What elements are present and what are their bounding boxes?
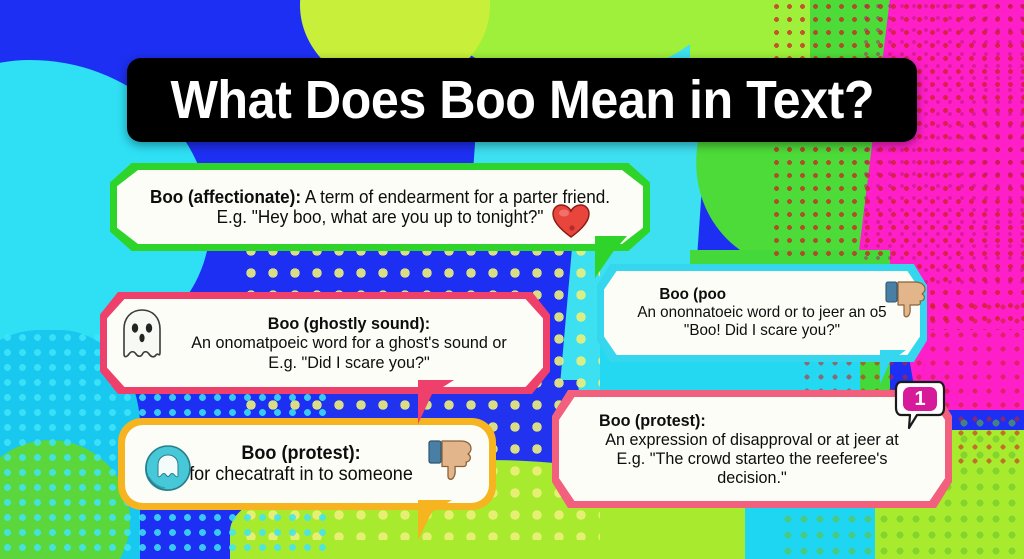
card-line3-protest-large: decision." [582, 468, 922, 487]
card-line2-protest-large: E.g. "The crowd starteo the reeferee's [582, 449, 922, 468]
card-surface-ghostly: Boo (ghostly sound): An onomatpoeic word… [107, 299, 543, 387]
card-label-ghostly: Boo (ghostly sound): [178, 314, 520, 333]
card-text-poo: Boo (poo An ononnatoeic word or to jeer … [625, 286, 899, 340]
card-poo[interactable]: Boo (poo An ononnatoeic word or to jeer … [597, 264, 927, 362]
card-line1-protest-large: An expression of disapproval or at jeer … [582, 430, 922, 449]
card-line1-affectionate: A term of endearment for a parter [305, 187, 558, 207]
card-surface-poo: Boo (poo An ononnatoeic word or to jeer … [604, 271, 920, 355]
card-line2-poo: "Boo! Did I scare you?" [625, 322, 899, 340]
card-text-ghostly: Boo (ghostly sound): An onomatpoeic word… [178, 314, 520, 371]
card-line1-poo: An ononnatoeic word or to jeer an o5 [625, 304, 899, 322]
page-title: What Does Boo Mean in Text? [170, 69, 874, 131]
thumbs-down-icon [427, 437, 475, 485]
card-protest-large[interactable]: Boo (protest): An expression of disappro… [552, 390, 952, 508]
ghost-circle-icon [142, 443, 194, 495]
card-label-protest-small: Boo (protest): [189, 443, 413, 464]
ghost-icon [113, 306, 171, 364]
card-text-affectionate: Boo (affectionate): A term of endearment… [143, 187, 616, 227]
infographic-canvas: What Does Boo Mean in Text? Boo (affecti… [0, 0, 1024, 559]
card-content-poo: Boo (poo An ononnatoeic word or to jeer … [604, 286, 920, 340]
speech-tail-ghostly [418, 380, 454, 424]
card-line2-ghostly: E.g. "Did I scare you?" [178, 353, 520, 372]
card-content-ghostly: Boo (ghostly sound): An onomatpoeic word… [107, 314, 543, 371]
title-banner: What Does Boo Mean in Text? [127, 58, 917, 142]
speech-tail-affectionate [595, 236, 627, 278]
heart-icon [551, 203, 591, 239]
halftone-magenta [860, 0, 1024, 290]
card-surface-protest-large: Boo (protest): An expression of disappro… [559, 397, 945, 501]
card-text-protest-small: Boo (protest): for checatraft in to some… [189, 443, 413, 486]
card-label-protest-large: Boo (protest): [582, 411, 922, 430]
card-label-affectionate: Boo (affectionate): [150, 187, 301, 207]
badge-number-text: 1 [903, 387, 937, 411]
card-line1-protest-small: for checatraft in to someone [189, 464, 413, 485]
number-one-badge: 1 [893, 378, 947, 432]
card-content-protest-large: Boo (protest): An expression of disappro… [559, 411, 945, 487]
speech-tail-protest-small [418, 500, 452, 540]
thumbs-down-icon [884, 278, 928, 322]
card-line1-ghostly: An onomatpoeic word for a ghost's sound … [178, 333, 520, 352]
card-text-protest-large: Boo (protest): An expression of disappro… [582, 411, 922, 487]
card-label-poo: Boo (poo [625, 286, 899, 304]
